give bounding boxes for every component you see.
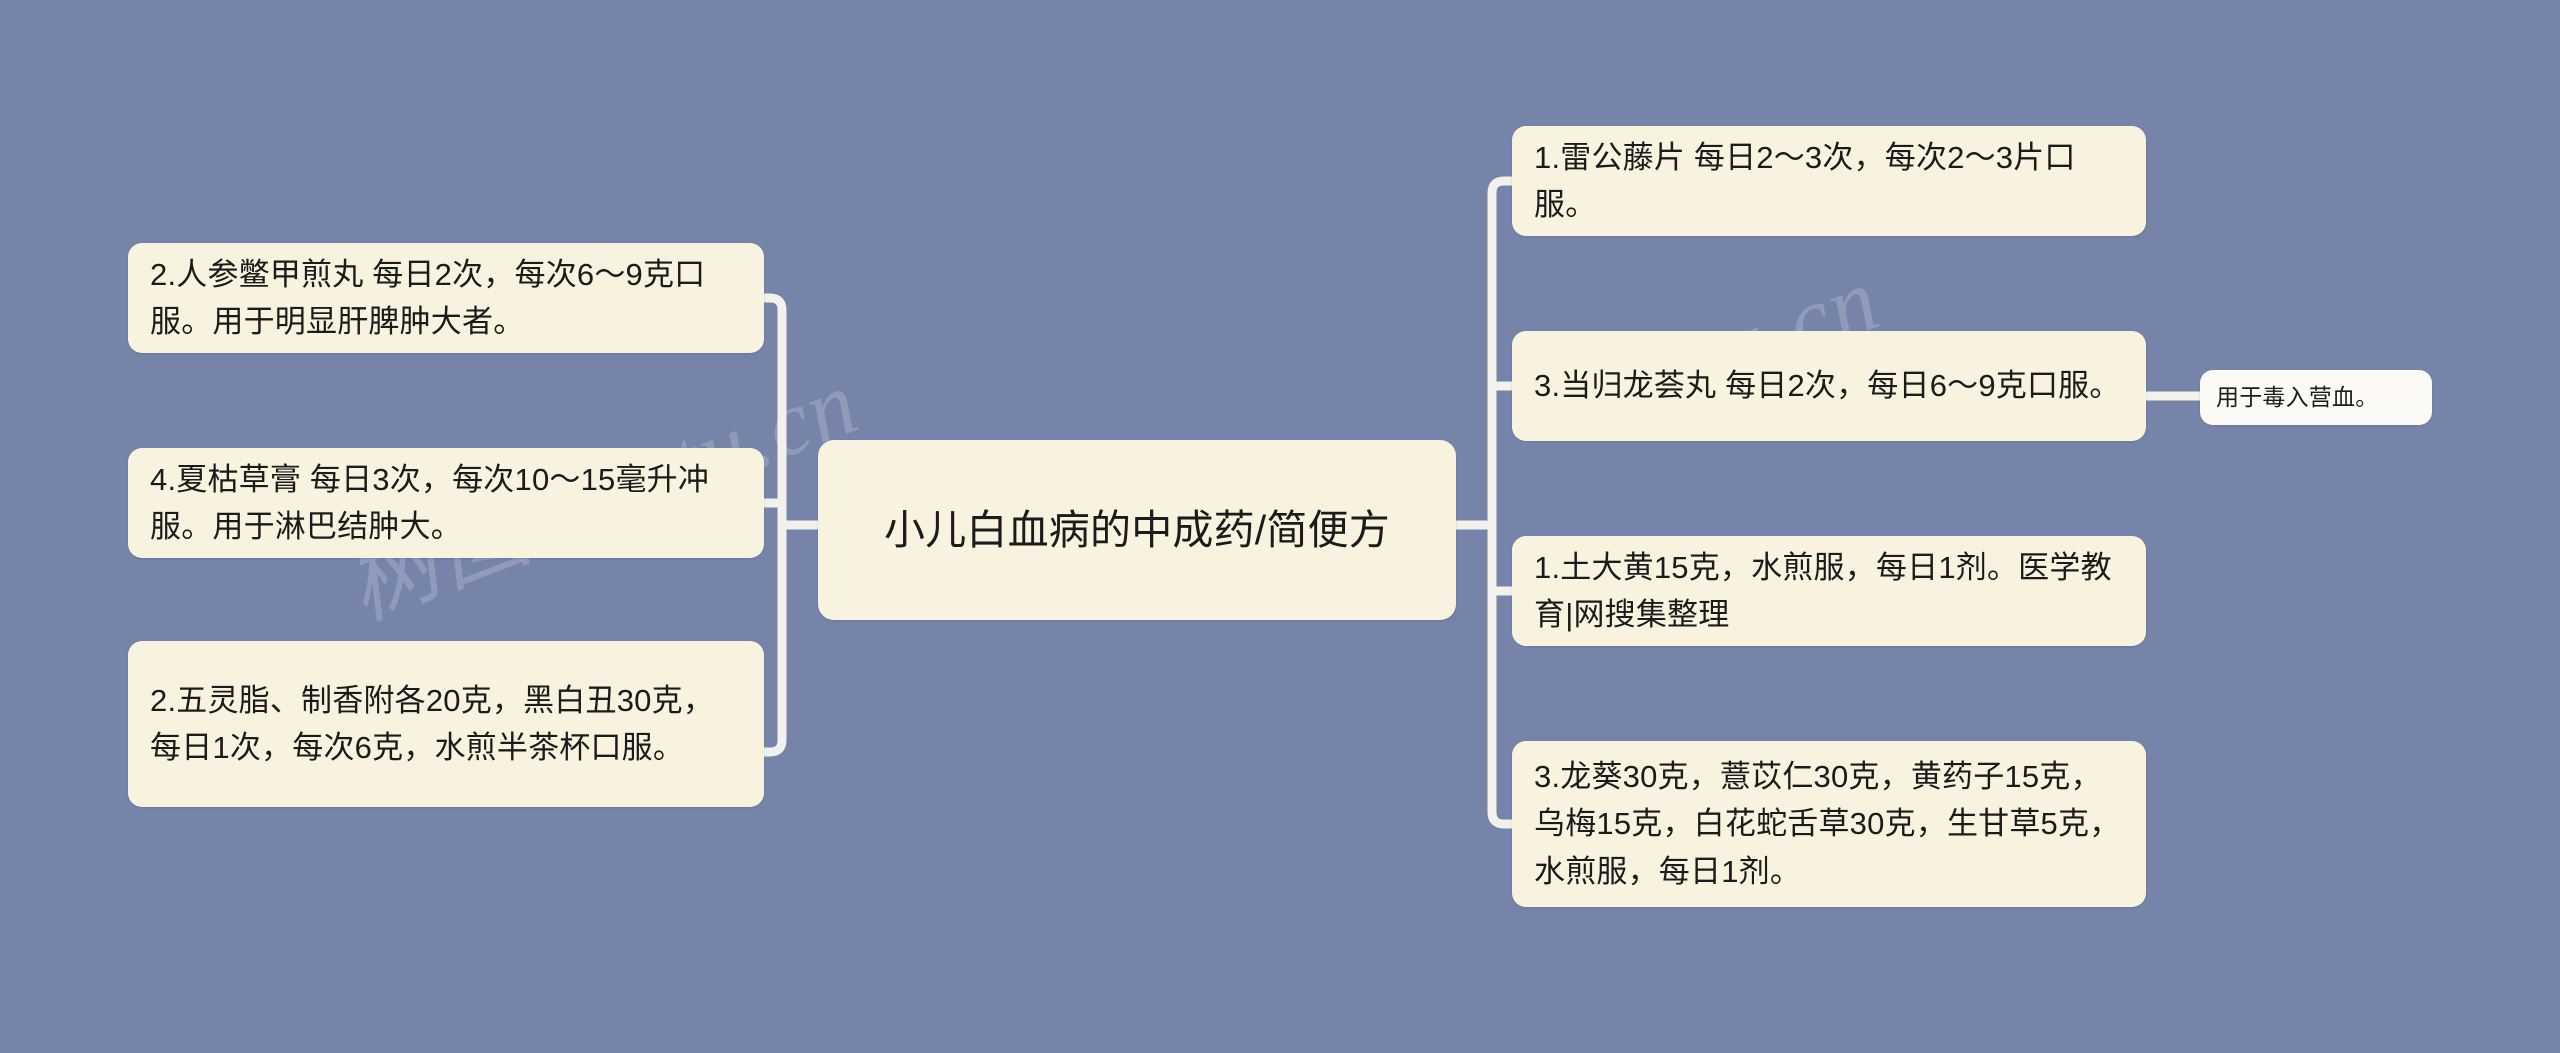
right-node-1[interactable]: 1.雷公藤片 每日2～3次，每次2～3片口服。 (1512, 126, 2146, 236)
connector-right-spine (1492, 181, 1512, 824)
right-node-3-label: 1.土大黄15克，水煎服，每日1剂。医学教育|网搜集整理 (1534, 544, 2124, 638)
mindmap-canvas: 树图 shutu.cn shutu.cn 小儿白血病的中成药/简便方 2.人参鳖… (0, 0, 2560, 1053)
right-leaf-node[interactable]: 用于毒入营血。 (2200, 370, 2432, 425)
left-node-2[interactable]: 4.夏枯草膏 每日3次，每次10～15毫升冲服。用于淋巴结肿大。 (128, 448, 764, 558)
right-node-4-label: 3.龙葵30克，薏苡仁30克，黄药子15克，乌梅15克，白花蛇舌草30克，生甘草… (1534, 753, 2124, 894)
right-node-4[interactable]: 3.龙葵30克，薏苡仁30克，黄药子15克，乌梅15克，白花蛇舌草30克，生甘草… (1512, 741, 2146, 907)
right-node-1-label: 1.雷公藤片 每日2～3次，每次2～3片口服。 (1534, 134, 2124, 228)
right-node-2[interactable]: 3.当归龙荟丸 每日2次，每日6～9克口服。 (1512, 331, 2146, 441)
right-leaf-node-label: 用于毒入营血。 (2216, 380, 2416, 415)
right-node-3[interactable]: 1.土大黄15克，水煎服，每日1剂。医学教育|网搜集整理 (1512, 536, 2146, 646)
left-node-1-label: 2.人参鳖甲煎丸 每日2次，每次6～9克口服。用于明显肝脾肿大者。 (150, 251, 742, 345)
root-node[interactable]: 小儿白血病的中成药/简便方 (818, 440, 1456, 620)
right-node-2-label: 3.当归龙荟丸 每日2次，每日6～9克口服。 (1534, 362, 2124, 409)
left-node-3[interactable]: 2.五灵脂、制香附各20克，黑白丑30克，每日1次，每次6克，水煎半茶杯口服。 (128, 641, 764, 807)
left-node-3-label: 2.五灵脂、制香附各20克，黑白丑30克，每日1次，每次6克，水煎半茶杯口服。 (150, 677, 742, 771)
root-node-label: 小儿白血病的中成药/简便方 (818, 499, 1456, 561)
left-node-2-label: 4.夏枯草膏 每日3次，每次10～15毫升冲服。用于淋巴结肿大。 (150, 456, 742, 550)
connector-left-spine (764, 298, 782, 752)
left-node-1[interactable]: 2.人参鳖甲煎丸 每日2次，每次6～9克口服。用于明显肝脾肿大者。 (128, 243, 764, 353)
